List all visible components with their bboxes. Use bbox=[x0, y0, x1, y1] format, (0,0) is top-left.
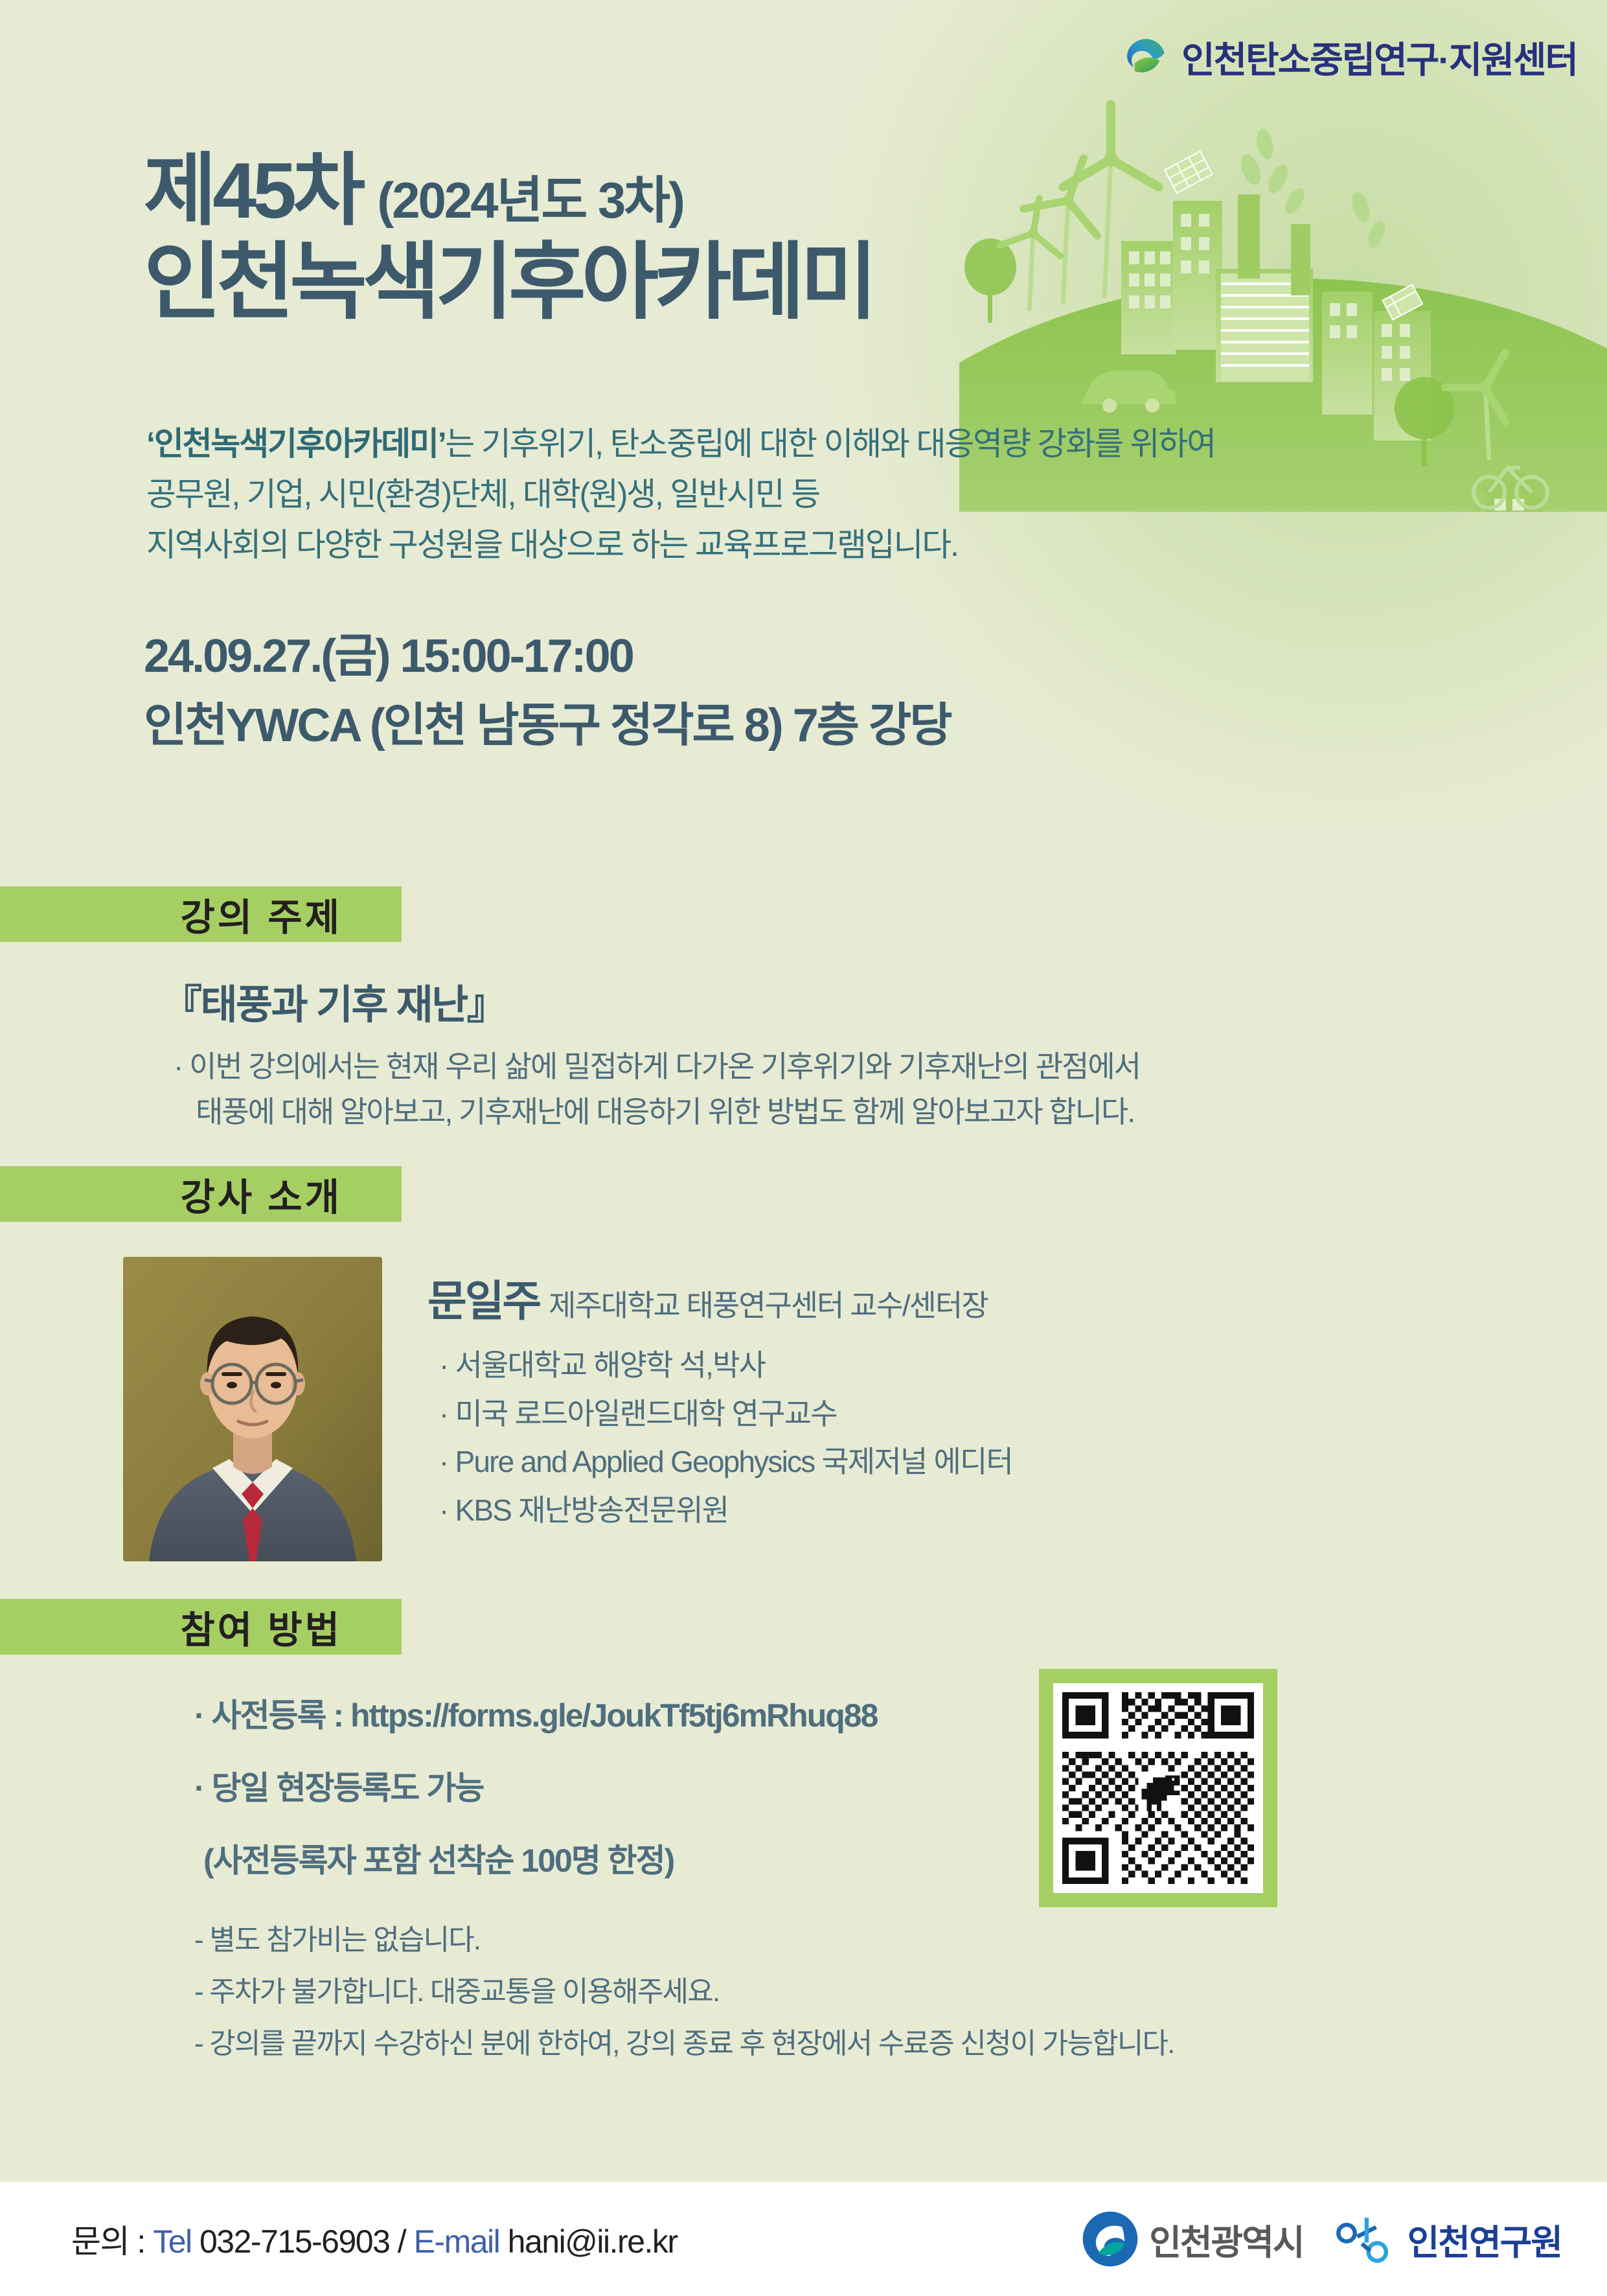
title-round: (2024년도 3차) bbox=[377, 160, 683, 233]
tel-value: 032-715-6903 / bbox=[192, 2223, 414, 2260]
capacity-note: (사전등록자 포함 선착순 100명 한정) bbox=[194, 1835, 877, 1881]
credential-item: 미국 로드아일랜드대학 연구교수 bbox=[439, 1390, 1012, 1438]
contact-line: 문의 : Tel 032-715-6903 / E-mail hani@ii.r… bbox=[71, 2216, 678, 2262]
incheon-institute-logo: 인천연구원 bbox=[1334, 2209, 1562, 2269]
participation-notes: 별도 참가비는 없습니다. 주차가 불가합니다. 대중교통을 이용해주세요. 강… bbox=[194, 1914, 1174, 2070]
brand-name: 인천탄소중립연구·지원센터 bbox=[1181, 31, 1577, 84]
schedule-block: 24.09.27.(금) 15:00-17:00 인천YWCA (인천 남동구 … bbox=[144, 622, 950, 760]
section-header-howto: 참여 방법 bbox=[0, 1599, 402, 1655]
instructor-role: 제주대학교 태풍연구센터 교수/센터장 bbox=[549, 1282, 987, 1325]
section-header-speaker: 강사 소개 bbox=[0, 1166, 402, 1222]
instructor-headline: 문일주 제주대학교 태풍연구센터 교수/센터장 bbox=[427, 1267, 988, 1329]
topic-description-line-2: 태풍에 대해 알아보고, 기후재난에 대응하기 위한 방법도 함께 알아보고자 … bbox=[174, 1090, 1140, 1135]
pre-registration-label: 사전등록 : bbox=[212, 1697, 350, 1734]
qr-code-frame[interactable] bbox=[1039, 1669, 1277, 1907]
section-header-speaker-label: 강사 소개 bbox=[180, 1167, 342, 1221]
credential-item: Pure and Applied Geophysics 국제저널 에디터 bbox=[439, 1438, 1012, 1486]
event-venue: 인천YWCA (인천 남동구 정각로 8) 7층 강당 bbox=[144, 691, 950, 761]
qr-code-inner bbox=[1053, 1683, 1263, 1893]
intro-line-3: 지역사회의 다양한 구성원을 대상으로 하는 교육프로그램입니다. bbox=[146, 520, 1215, 570]
note-item: 주차가 불가합니다. 대중교통을 이용해주세요. bbox=[194, 1966, 1174, 2018]
section-header-topic: 강의 주제 bbox=[0, 886, 402, 942]
note-item: 별도 참가비는 없습니다. bbox=[194, 1914, 1174, 1966]
event-datetime: 24.09.27.(금) 15:00-17:00 bbox=[144, 622, 950, 691]
incheon-institute-logo-icon bbox=[1334, 2209, 1398, 2269]
page-title: 제45차 (2024년도 3차) 인천녹색기후아카데미 bbox=[144, 150, 873, 330]
contact-prefix: 문의 : bbox=[71, 2223, 153, 2260]
tel-label: Tel bbox=[153, 2223, 191, 2260]
pre-registration-row[interactable]: 사전등록 : https://forms.gle/JoukTf5tj6mRhuq… bbox=[194, 1690, 877, 1736]
participation-details: 사전등록 : https://forms.gle/JoukTf5tj6mRhuq… bbox=[194, 1690, 877, 1881]
credential-item: 서울대학교 해양학 석,박사 bbox=[439, 1341, 1012, 1390]
instructor-credentials: 서울대학교 해양학 석,박사 미국 로드아일랜드대학 연구교수 Pure and… bbox=[439, 1341, 1012, 1534]
footer-logos: 인천광역시 인천연구원 bbox=[1080, 2209, 1562, 2269]
section-header-howto-label: 참여 방법 bbox=[180, 1600, 342, 1654]
note-item: 강의를 끝까지 수강하신 분에 한하여, 강의 종료 후 현장에서 수료증 신청… bbox=[194, 2018, 1174, 2070]
incheon-city-logo: 인천광역시 bbox=[1080, 2209, 1303, 2269]
intro-line-1: ‘인천녹색기후아카데미’는 기후위기, 탄소중립에 대한 이해와 대응역량 강화… bbox=[146, 419, 1215, 469]
brand-logo: 인천탄소중립연구·지원센터 bbox=[1123, 31, 1577, 84]
credential-item: KBS 재난방송전문위원 bbox=[439, 1486, 1012, 1535]
email-label: E-mail bbox=[414, 2223, 500, 2260]
incheon-city-logo-text: 인천광역시 bbox=[1149, 2214, 1303, 2265]
poster-body: 인천탄소중립연구·지원센터 제45차 (2024년도 3차) 인천녹색기후아카데… bbox=[0, 0, 1607, 2182]
pre-registration-url[interactable]: https://forms.gle/JoukTf5tj6mRhuq88 bbox=[350, 1697, 877, 1734]
carbon-neutral-center-logo-icon bbox=[1123, 34, 1171, 82]
title-edition: 제45차 bbox=[144, 150, 361, 231]
intro-line-1-rest: 는 기후위기, 탄소중립에 대한 이해와 대응역량 강화를 위하여 bbox=[445, 426, 1215, 462]
topic-description-line-1: · 이번 강의에서는 현재 우리 삶에 밀접하게 다가온 기후위기와 기후재난의… bbox=[174, 1044, 1140, 1090]
topic-title: 『태풍과 기후 재난』 bbox=[162, 972, 505, 1030]
registration-qr-code[interactable] bbox=[1062, 1692, 1254, 1884]
intro-program-quote: ‘인천녹색기후아카데미’ bbox=[146, 426, 445, 462]
intro-line-2: 공무원, 기업, 시민(환경)단체, 대학(원)생, 일반시민 등 bbox=[146, 469, 1215, 520]
footer: 문의 : Tel 032-715-6903 / E-mail hani@ii.r… bbox=[0, 2182, 1607, 2296]
title-program: 인천녹색기후아카데미 bbox=[144, 235, 873, 330]
email-value: hani@ii.re.kr bbox=[499, 2223, 677, 2260]
incheon-institute-logo-text: 인천연구원 bbox=[1408, 2214, 1562, 2265]
instructor-name: 문일주 bbox=[427, 1267, 540, 1329]
instructor-photo bbox=[123, 1257, 382, 1561]
incheon-city-logo-icon bbox=[1080, 2209, 1140, 2269]
dinosaur-logo-icon bbox=[1138, 1771, 1180, 1811]
section-header-topic-label: 강의 주제 bbox=[180, 887, 342, 941]
onsite-registration-row: 당일 현장등록도 가능 bbox=[194, 1762, 877, 1809]
intro-paragraph: ‘인천녹색기후아카데미’는 기후위기, 탄소중립에 대한 이해와 대응역량 강화… bbox=[146, 419, 1215, 570]
topic-description: · 이번 강의에서는 현재 우리 삶에 밀접하게 다가온 기후위기와 기후재난의… bbox=[174, 1044, 1140, 1135]
